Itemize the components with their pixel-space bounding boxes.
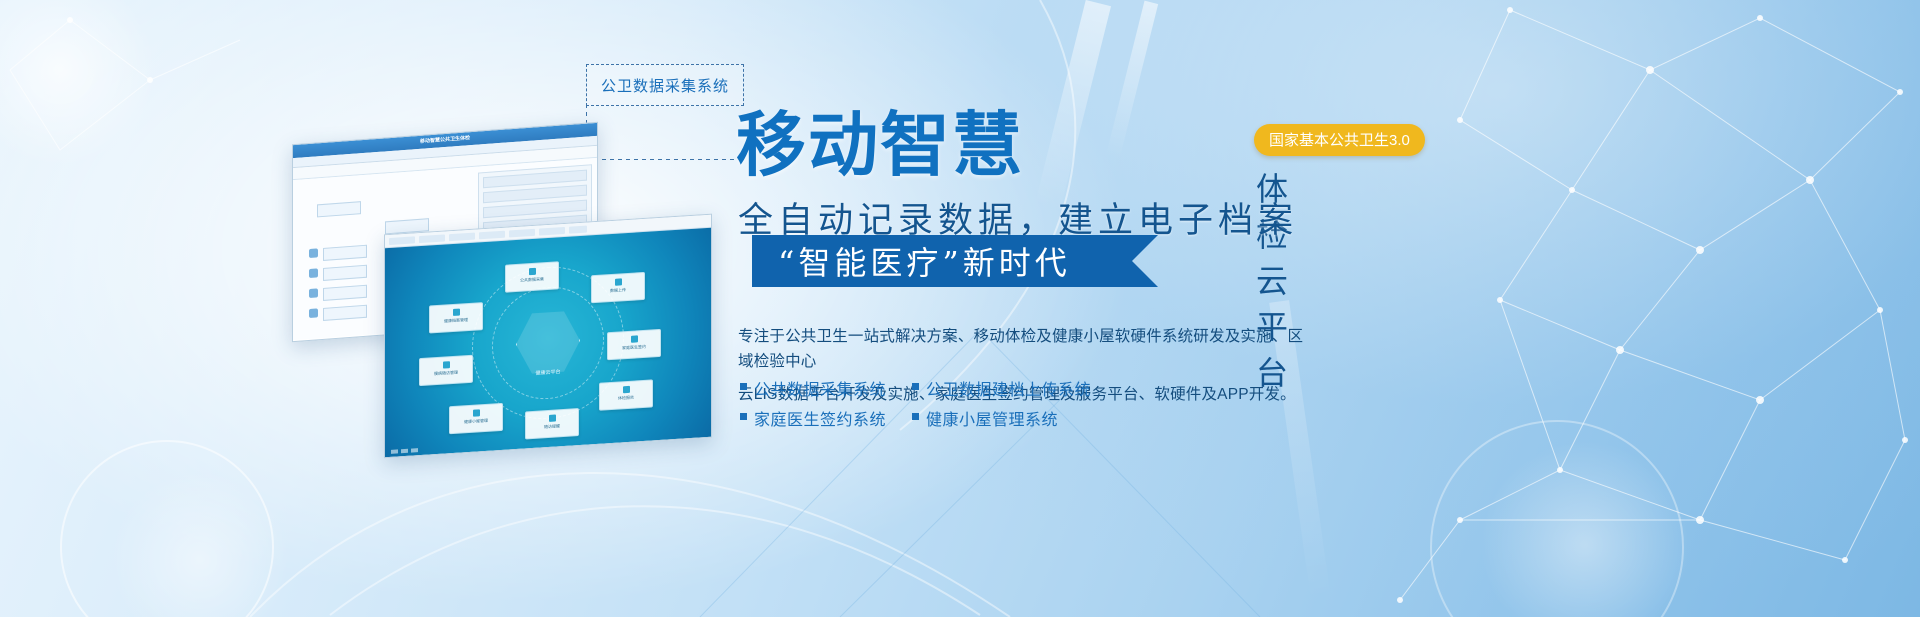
feature-tag[interactable]: 公共数据采集系统 xyxy=(740,376,890,400)
mockup-icon xyxy=(309,288,318,298)
bullet-square-icon xyxy=(740,413,747,420)
bullet-square-icon xyxy=(912,383,919,390)
dashboard-card: 公共数据采集 xyxy=(505,261,559,292)
dashboard-card: 数据上传 xyxy=(591,272,645,303)
dashboard-card: 健康档案管理 xyxy=(429,302,483,333)
bokeh-circle xyxy=(0,0,160,170)
arc-ring xyxy=(60,440,274,617)
ribbon-banner: “智能医疗”新时代 xyxy=(752,235,1132,287)
mockup-icon xyxy=(309,308,318,318)
bokeh-circle xyxy=(110,470,290,617)
mockup-icon xyxy=(309,248,318,258)
feature-tag[interactable]: 家庭医生签约系统 xyxy=(740,406,890,430)
callout-label: 公卫数据采集系统 xyxy=(601,75,729,96)
bullet-square-icon xyxy=(740,383,747,390)
mockup-node xyxy=(323,265,367,281)
mockup-status-icons xyxy=(391,448,418,454)
dashboard-card: 慢病随访管理 xyxy=(419,355,473,386)
headline-row: 移动智慧 国家基本公共卫生3.0 体检云平台 xyxy=(736,112,1024,179)
feature-tag-label: 公共数据采集系统 xyxy=(754,376,886,400)
promo-banner: 公卫数据采集系统 移动智慧公共卫生体检 xyxy=(0,0,1920,617)
feature-tag[interactable]: 公卫数据建档上传系统 xyxy=(912,376,1062,400)
status-badge: 国家基本公共卫生3.0 xyxy=(1254,124,1425,156)
feature-tag-list: 公共数据采集系统 公卫数据建档上传系统 家庭医生签约系统 健康小屋管理系统 xyxy=(740,376,1320,436)
mockup-dashboard-canvas: 健康云平台 公共数据采集 数据上传 健康档案管理 家庭医生签约 慢病随访管理 体… xyxy=(385,228,711,458)
copy-block: 移动智慧 国家基本公共卫生3.0 体检云平台 全自动记录数据，建立电子档案 “智… xyxy=(736,0,1916,617)
feature-tag-label: 健康小屋管理系统 xyxy=(926,406,1058,430)
bullet-square-icon xyxy=(912,413,919,420)
feature-tag-row: 公共数据采集系统 公卫数据建档上传系统 xyxy=(740,376,1320,400)
app-screenshot-front: 健康云平台 公共数据采集 数据上传 健康档案管理 家庭医生签约 慢病随访管理 体… xyxy=(384,214,712,459)
description-line-1: 专注于公共卫生一站式解决方案、移动体检及健康小屋软硬件系统研发及实施、区域检验中… xyxy=(738,324,1318,374)
callout-leader-horizontal xyxy=(586,159,736,160)
callout-box: 公卫数据采集系统 xyxy=(586,64,744,106)
mockup-node xyxy=(323,245,367,261)
feature-tag-label: 家庭医生签约系统 xyxy=(754,406,886,430)
dashboard-card: 健康小屋管理 xyxy=(449,403,503,434)
dashboard-card: 随访提醒 xyxy=(525,408,579,439)
feature-tag[interactable]: 健康小屋管理系统 xyxy=(912,406,1062,430)
feature-tag-label: 公卫数据建档上传系统 xyxy=(926,376,1091,400)
headline-primary: 移动智慧 xyxy=(736,112,1024,179)
ribbon-arrow-tip xyxy=(1132,235,1158,287)
mockup-node xyxy=(323,305,367,321)
mockup-node xyxy=(317,201,361,217)
mockup-icon xyxy=(309,268,318,278)
mockup-node xyxy=(323,285,367,301)
ribbon-label: “智能医疗”新时代 xyxy=(778,238,1071,284)
feature-tag-row: 家庭医生签约系统 健康小屋管理系统 xyxy=(740,406,1320,430)
dashboard-card: 家庭医生签约 xyxy=(607,329,661,360)
dashboard-card: 体检报告 xyxy=(599,379,653,410)
